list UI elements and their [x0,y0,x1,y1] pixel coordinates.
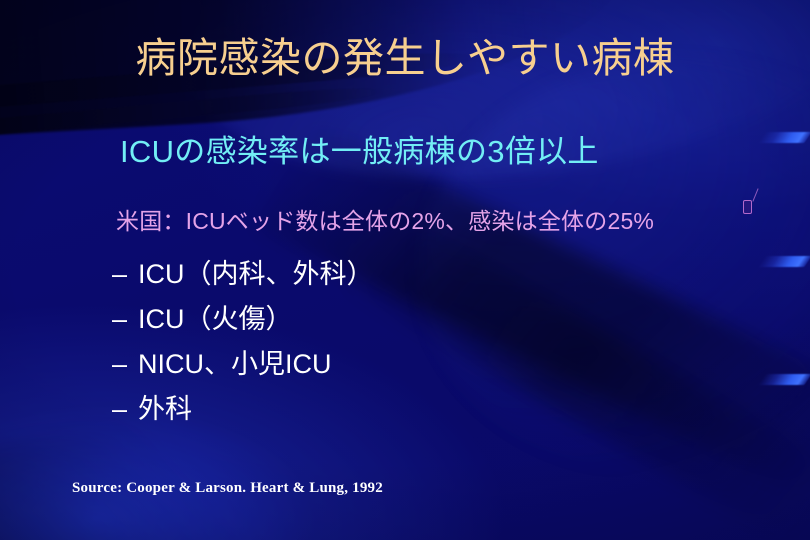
bullet-list: – ICU（内科、外科） – ICU（火傷） – NICU、小児ICU – 外科 [112,252,374,432]
bullet-label: 外科 [138,396,192,423]
list-item: – 外科 [112,387,374,432]
bullet-label: ICU（火傷） [138,306,293,333]
source-citation: Source: Cooper & Larson. Heart & Lung, 1… [72,480,383,497]
bullet-label: ICU（内科、外科） [138,261,374,288]
list-item: – NICU、小児ICU [112,342,374,387]
bullet-marker-icon: – [112,351,138,378]
bullet-marker-icon: – [112,306,138,333]
list-item: – ICU（内科、外科） [112,252,374,297]
presentation-slide: 病院感染の発生しやすい病棟 ICUの感染率は一般病棟の3倍以上 米国：ICUベッ… [0,0,810,540]
bullet-marker-icon: – [112,396,138,423]
list-item: – ICU（火傷） [112,297,374,342]
slide-title: 病院感染の発生しやすい病棟 [0,36,810,82]
slide-subtitle: ICUの感染率は一般病棟の3倍以上 [120,134,599,170]
bullet-marker-icon: – [112,261,138,288]
bullet-label: NICU、小児ICU [138,351,332,378]
slide-content: 病院感染の発生しやすい病棟 ICUの感染率は一般病棟の3倍以上 米国：ICUベッ… [0,0,810,540]
slide-lead-statistic: 米国：ICUベッド数は全体の2%、感染は全体の25% [116,208,654,236]
